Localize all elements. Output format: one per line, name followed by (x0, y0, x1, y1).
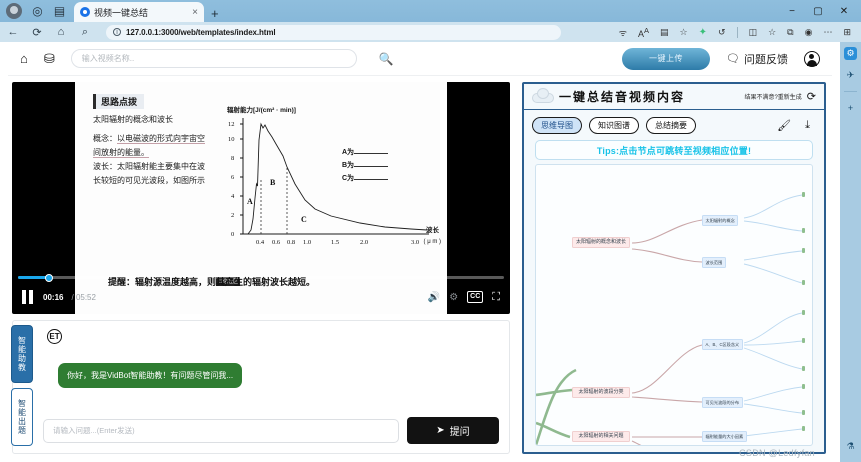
mindmap-leaf-chip[interactable] (802, 248, 805, 253)
chat-input-placeholder: 请输入问题...(Enter发送) (53, 425, 135, 436)
settings-icon[interactable]: ⚙ (844, 47, 857, 60)
address-bar[interactable]: i 127.0.0.1:3000/web/templates/index.htm… (106, 25, 561, 40)
close-window-icon[interactable]: ✕ (831, 2, 857, 20)
browser-collections-icon[interactable]: ◎ (30, 4, 45, 19)
browser-nav-bar: ← ⟳ ⌂ ⌕ i 127.0.0.1:3000/web/templates/i… (0, 22, 861, 42)
bot-avatar: ET (47, 329, 62, 344)
svg-text:0.6: 0.6 (272, 239, 281, 246)
immersive-reader-icon[interactable]: ▤ (660, 27, 669, 38)
page-title: 一键总结音视频内容 (559, 88, 685, 105)
download-icon[interactable]: ⤓ (805, 119, 810, 132)
sidebar-toggle-icon[interactable]: ⊞ (843, 27, 851, 38)
svg-text:0.8: 0.8 (287, 239, 295, 246)
summary-tool-icons: 🖌 ⤓ (777, 119, 816, 132)
favorites-icon[interactable]: ☆ (768, 27, 776, 38)
mindmap-node[interactable]: 辐射能量的大小因素 (702, 431, 747, 442)
rail-divider (844, 91, 857, 92)
slide-body: 概念：以电磁波的形式向宇宙空间放射的能量。 波长：太阳辐射能主要集中在波长较短的… (93, 132, 209, 188)
video-player[interactable]: 思路点拨 太阳辐射的概念和波长 概念：以电磁波的形式向宇宙空间放射的能量。 波长… (12, 82, 510, 314)
concept-label: 概念： (93, 134, 117, 143)
text-size-icon[interactable]: AA (638, 26, 649, 39)
mindmap-node[interactable]: 太阳辐射的概念 (702, 215, 738, 226)
video-subtitle: 提醒：辐射源温度越高，则其产生的辐射波长越短。 (108, 275, 315, 288)
svg-text:10: 10 (228, 136, 235, 143)
browser-essentials-icon[interactable]: ◉ (805, 27, 813, 38)
summary-tabs: 思维导图 知识图谱 总结摘要 🖌 ⤓ (524, 112, 824, 138)
svg-text:2: 2 (231, 212, 234, 219)
search-icon[interactable]: 🔍 (379, 52, 394, 66)
send-icon[interactable]: ✈ (844, 69, 857, 82)
browser-title-bar: ◎ ▤ 视频一键总结 × + − ▢ ✕ (0, 0, 861, 22)
mindmap-leaf-chip[interactable] (802, 366, 805, 371)
refresh-icon[interactable]: ⟳ (807, 90, 816, 103)
window-controls: − ▢ ✕ (779, 2, 857, 20)
minimize-icon[interactable]: − (779, 2, 805, 20)
wavelength-label: 波长： (93, 162, 117, 171)
collections-icon[interactable]: ⧉ (787, 27, 793, 38)
more-options-icon[interactable]: ⋯ (823, 27, 832, 38)
browser-search-icon[interactable]: ⌕ (78, 26, 92, 39)
search-input[interactable]: 输入视频名称.. (71, 49, 357, 68)
mindmap-root-node[interactable]: 太阳辐射的相关问题 (572, 431, 630, 442)
chat-message-row: ET (47, 329, 62, 344)
video-controls-bar: 00:16 / 05:52 🔊 ⚙ CC ⛶ 提醒：辐射源温度越高，则其产生的辐… (12, 274, 510, 314)
video-time-current: 00:16 (43, 293, 63, 302)
browser-side-rail: ⚙ ✈ + ⚗ (840, 42, 861, 462)
video-right-controls: 🔊 ⚙ CC ⛶ (428, 291, 500, 304)
blank-a: A为 (342, 149, 354, 156)
regenerate-label: 结果不满意?重新生成 (744, 92, 801, 101)
home-icon[interactable]: ⌂ (20, 51, 28, 66)
svg-text:1.0: 1.0 (303, 239, 311, 246)
pause-icon[interactable] (22, 290, 35, 304)
chart-answer-blanks: A为 B为 C为 (342, 146, 388, 185)
ask-button-label: 提问 (450, 423, 470, 438)
upload-button[interactable]: 一键上传 (622, 48, 710, 70)
chat-input-row: 请输入问题...(Enter发送) ➤ 提问 (43, 417, 499, 444)
mindmap-leaf-chip[interactable] (802, 426, 805, 431)
site-info-icon[interactable]: i (113, 28, 121, 36)
browser-toolbar-icons: ᯤ AA ▤ ☆ ✦ ↺ ◫ ☆ ⧉ ◉ ⋯ ⊞ (619, 26, 855, 39)
chat-side-tabs: 智能助教 智能出题 (11, 325, 35, 451)
regenerate-button[interactable]: 结果不满意?重新生成 ⟳ (744, 90, 816, 103)
svg-text:1.5: 1.5 (331, 239, 339, 246)
radiation-chart: 辐射能力[J/(cm² · min)] 0 2 4 6 8 (215, 104, 441, 284)
cloud-icon (532, 91, 552, 103)
summary-panel: 一键总结音视频内容 结果不满意?重新生成 ⟳ 思维导图 知识图谱 总结摘要 🖌 … (522, 82, 826, 454)
blank-c: C为 (342, 175, 354, 182)
mindmap-node[interactable]: 可见光波段的分布 (702, 397, 743, 408)
chat-bubble-icon: 🗨 (726, 52, 740, 65)
tab-knowledge-graph[interactable]: 知识图谱 (589, 117, 639, 134)
chart-region-a: A (247, 197, 253, 206)
avatar[interactable] (804, 51, 820, 67)
app-header: ⌂ ⛁ 输入视频名称.. 🔍 一键上传 🗨 问题反馈 (8, 42, 832, 76)
blank-b: B为 (342, 162, 354, 169)
slide-heading: 思路点拨 (93, 94, 144, 109)
mindmap-leaf-chip[interactable] (802, 280, 805, 285)
volume-icon[interactable]: 🔊 (428, 292, 440, 303)
tab-strip: 视频一键总结 × + (74, 2, 219, 22)
mindmap-leaf-chip[interactable] (802, 410, 805, 415)
watermark: CSDN @Ledfyfan (739, 448, 815, 458)
chart-region-c: C (301, 215, 307, 224)
back-icon[interactable]: ← (6, 26, 20, 38)
video-progress-handle[interactable] (45, 274, 53, 282)
upload-icon[interactable]: ⛁ (44, 51, 55, 67)
mindmap-leaf-chip[interactable] (802, 310, 805, 315)
cc-icon[interactable]: CC (467, 291, 483, 303)
feedback-label: 问题反馈 (744, 51, 788, 67)
summary-panel-header: 一键总结音视频内容 结果不满意?重新生成 ⟳ (524, 84, 824, 110)
tab-favicon (80, 7, 90, 17)
chart-x-axis-unit: ( μ m ) (424, 239, 441, 245)
svg-text:12: 12 (228, 121, 235, 128)
maximize-icon[interactable]: ▢ (805, 2, 831, 20)
mindmap-node[interactable]: 波长范围 (702, 257, 726, 268)
read-aloud-icon[interactable]: ᯤ (619, 26, 627, 39)
gear-icon[interactable]: ⚙ (449, 292, 458, 303)
mindmap-node[interactable]: A、B、C区段含义 (702, 339, 743, 350)
mindmap-leaf-chip[interactable] (802, 192, 805, 197)
mindmap-leaf-chip[interactable] (802, 384, 805, 389)
svg-text:0.4: 0.4 (256, 239, 265, 246)
new-tab-button[interactable]: + (211, 6, 219, 22)
sidebar-item-assistant[interactable]: 智能助教 (11, 325, 33, 383)
tab-mindmap[interactable]: 思维导图 (532, 117, 582, 134)
svg-text:4: 4 (231, 193, 235, 200)
mindmap-links (536, 165, 813, 446)
add-icon[interactable]: + (844, 101, 857, 114)
copilot-icon[interactable]: ✦ (699, 27, 707, 38)
mindmap-root-node[interactable]: 太阳辐射的概念和波长 (572, 237, 630, 248)
slide-subheading: 太阳辐射的概念和波长 (93, 114, 173, 125)
close-icon[interactable]: × (192, 7, 198, 18)
svg-text:3.0: 3.0 (411, 239, 419, 246)
mindmap-canvas[interactable]: 太阳辐射的概念和波长 太阳辐射的波段分类 太阳辐射的相关问题 太阳辐射的概念 波… (535, 164, 813, 446)
chart-x-axis-label: 波长 (426, 224, 439, 234)
video-progress-fill (18, 276, 48, 279)
browser-profile-icon[interactable] (6, 3, 22, 19)
history-icon[interactable]: ↺ (718, 27, 726, 38)
brush-icon[interactable]: 🖌 (777, 119, 791, 132)
tips-text: Tips:点击节点可跳转至视频相应位置! (597, 144, 751, 157)
search-placeholder: 输入视频名称.. (82, 53, 134, 64)
tips-banner: Tips:点击节点可跳转至视频相应位置! (535, 140, 813, 160)
sidebar-item-quiz[interactable]: 智能出题 (11, 388, 33, 446)
screen-root: ◎ ▤ 视频一键总结 × + − ▢ ✕ ← ⟳ ⌂ ⌕ i 127.0.0.1… (0, 0, 861, 462)
customize-icon[interactable]: ⚗ (844, 440, 857, 453)
chart-plot: 0 2 4 6 8 10 12 0.4 0.6 (215, 112, 441, 262)
chart-region-b: B (270, 178, 276, 187)
tab-title: 视频一键总结 (94, 6, 188, 19)
chat-panel: 智能助教 智能出题 ET 你好，我是VidBot智能助教！有问题尽管问我... … (12, 320, 510, 454)
send-icon: ➤ (436, 425, 444, 436)
split-screen-icon[interactable]: ◫ (749, 27, 758, 38)
left-column: 思路点拨 太阳辐射的概念和波长 概念：以电磁波的形式向宇宙空间放射的能量。 波长… (12, 82, 510, 454)
fullscreen-icon[interactable]: ⛶ (492, 291, 500, 304)
web-page: ⌂ ⛁ 输入视频名称.. 🔍 一键上传 🗨 问题反馈 思路点拨 太阳辐射的概念和… (0, 42, 840, 462)
svg-text:6: 6 (231, 174, 235, 181)
toolbar-divider (737, 27, 738, 38)
ask-button[interactable]: ➤ 提问 (407, 417, 499, 444)
video-time-duration: / 05:52 (71, 293, 96, 302)
favorite-star-icon[interactable]: ☆ (680, 27, 688, 38)
browser-tab-actions-icon[interactable]: ▤ (52, 4, 67, 19)
browser-tab[interactable]: 视频一键总结 × (74, 2, 204, 22)
svg-text:8: 8 (231, 155, 234, 162)
svg-text:2.0: 2.0 (360, 239, 368, 246)
mindmap-root-node[interactable]: 太阳辐射的波段分类 (572, 387, 630, 398)
mindmap-leaf-chip[interactable] (802, 338, 805, 343)
address-bar-url: 127.0.0.1:3000/web/templates/index.html (126, 28, 276, 37)
chat-input[interactable]: 请输入问题...(Enter发送) (43, 419, 399, 443)
mindmap-leaf-chip[interactable] (802, 228, 805, 233)
chat-bot-message: 你好，我是VidBot智能助教！有问题尽管问我... (58, 363, 242, 388)
feedback-button[interactable]: 🗨 问题反馈 (726, 51, 788, 67)
home-icon[interactable]: ⌂ (54, 26, 68, 38)
svg-text:0: 0 (231, 231, 234, 238)
reload-icon[interactable]: ⟳ (30, 26, 44, 39)
tab-summary[interactable]: 总结摘要 (646, 117, 696, 134)
